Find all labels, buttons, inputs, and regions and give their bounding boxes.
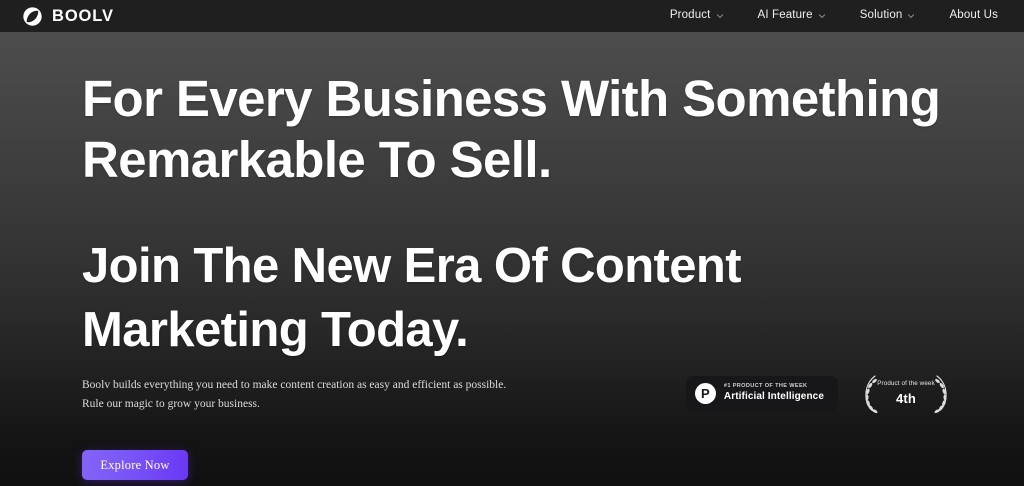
hero-headline-primary: For Every Business With Something Remark… (82, 68, 962, 190)
product-hunt-badge-kicker: #1 PRODUCT OF THE WEEK (724, 384, 824, 390)
nav-item-ai-feature[interactable]: AI Feature (758, 10, 826, 22)
chevron-down-icon (818, 12, 826, 20)
hero-subcopy: Boolv builds everything you need to make… (82, 376, 602, 414)
product-hunt-badge-title: Artificial Intelligence (724, 392, 824, 402)
chevron-down-icon (716, 12, 724, 20)
laurel-badge-rank: 4th (877, 392, 935, 405)
hero-headline-block: For Every Business With Something Remark… (82, 68, 962, 362)
boolv-leaf-circle-icon (22, 6, 43, 27)
hero-subcopy-line-2: Rule our magic to grow your business. (82, 395, 602, 414)
laurel-award-badge[interactable]: Product of the week 4th (858, 372, 954, 414)
hero-headline-line-1: For Every Business With Something (82, 68, 962, 129)
award-badges: P #1 PRODUCT OF THE WEEK Artificial Inte… (686, 372, 954, 414)
brand-name: BOOLV (52, 8, 114, 25)
nav-links: Product AI Feature Solution About Us (670, 10, 998, 22)
hero-subcopy-line-1: Boolv builds everything you need to make… (82, 376, 602, 395)
explore-now-button[interactable]: Explore Now (82, 450, 188, 480)
nav-item-about-us-label: About Us (949, 10, 998, 22)
hero-headline-line-4: Marketing Today. (82, 298, 962, 362)
nav-item-product[interactable]: Product (670, 10, 724, 22)
laurel-badge-text: Product of the week 4th (877, 381, 935, 404)
product-hunt-badge-text: #1 PRODUCT OF THE WEEK Artificial Intell… (724, 384, 824, 402)
hero-section: For Every Business With Something Remark… (0, 32, 1024, 486)
product-hunt-badge[interactable]: P #1 PRODUCT OF THE WEEK Artificial Inte… (686, 376, 838, 411)
nav-item-about-us[interactable]: About Us (949, 10, 998, 22)
nav-item-solution[interactable]: Solution (860, 10, 916, 22)
nav-item-solution-label: Solution (860, 10, 903, 22)
hero-headline-line-3: Join The New Era Of Content (82, 234, 962, 298)
landing-page: BOOLV Product AI Feature Solution (0, 0, 1024, 486)
nav-item-ai-feature-label: AI Feature (758, 10, 813, 22)
chevron-down-icon (907, 12, 915, 20)
nav-item-product-label: Product (670, 10, 711, 22)
hero-headline-secondary: Join The New Era Of Content Marketing To… (82, 234, 962, 362)
laurel-badge-kicker: Product of the week (877, 381, 935, 387)
product-hunt-icon: P (695, 383, 716, 404)
hero-headline-line-2: Remarkable To Sell. (82, 129, 962, 190)
top-navigation-bar: BOOLV Product AI Feature Solution (0, 0, 1024, 32)
brand-logo[interactable]: BOOLV (22, 6, 114, 27)
